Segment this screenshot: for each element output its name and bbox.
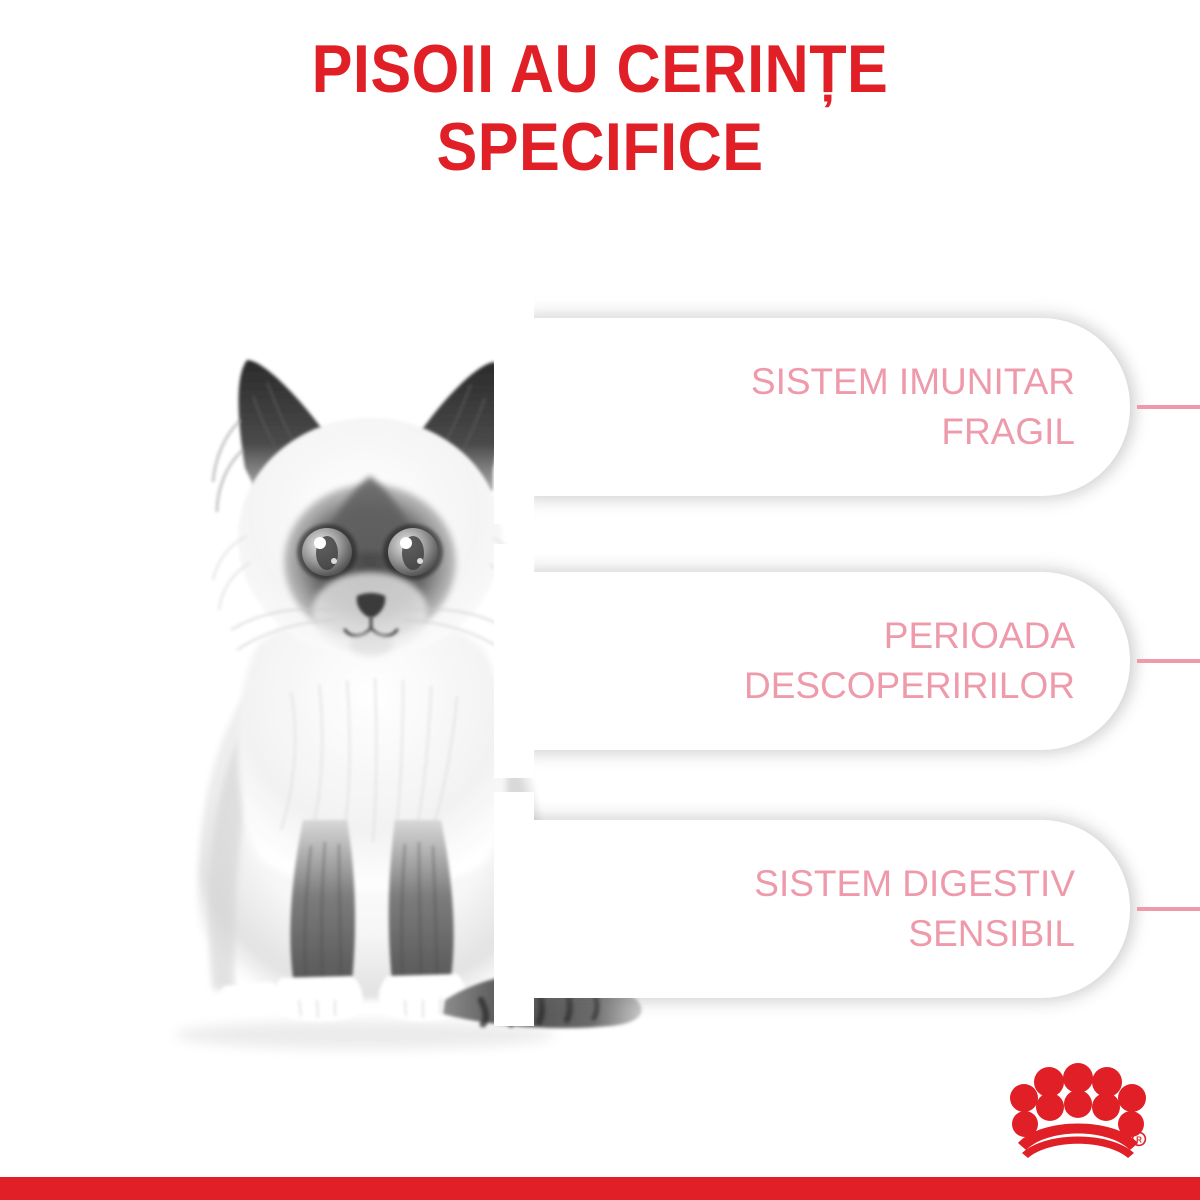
benefit-card-digestive[interactable]: SISTEM DIGESTIV SENSIBIL	[520, 820, 1130, 998]
royal-canin-crown-logo: R	[1008, 1055, 1148, 1160]
connector-line-2	[1137, 659, 1200, 663]
connector-line-3	[1137, 907, 1200, 911]
registered-trademark-icon: R	[1133, 1133, 1146, 1146]
benefit-card-discovery[interactable]: PERIOADA DESCOPERIRILOR	[520, 572, 1130, 750]
benefit-label-digestive: SISTEM DIGESTIV SENSIBIL	[754, 859, 1075, 959]
poster-canvas: PISOII AU CERINȚE SPECIFICE	[0, 0, 1200, 1200]
footer-bar	[0, 1177, 1200, 1200]
svg-text:R: R	[1136, 1135, 1142, 1144]
benefit-label-immune: SISTEM IMUNITAR FRAGIL	[751, 357, 1075, 457]
benefit-card-immune[interactable]: SISTEM IMUNITAR FRAGIL	[520, 318, 1130, 496]
benefit-label-discovery: PERIOADA DESCOPERIRILOR	[744, 611, 1075, 711]
page-title: PISOII AU CERINȚE SPECIFICE	[195, 30, 1005, 186]
connector-line-1	[1137, 405, 1200, 409]
